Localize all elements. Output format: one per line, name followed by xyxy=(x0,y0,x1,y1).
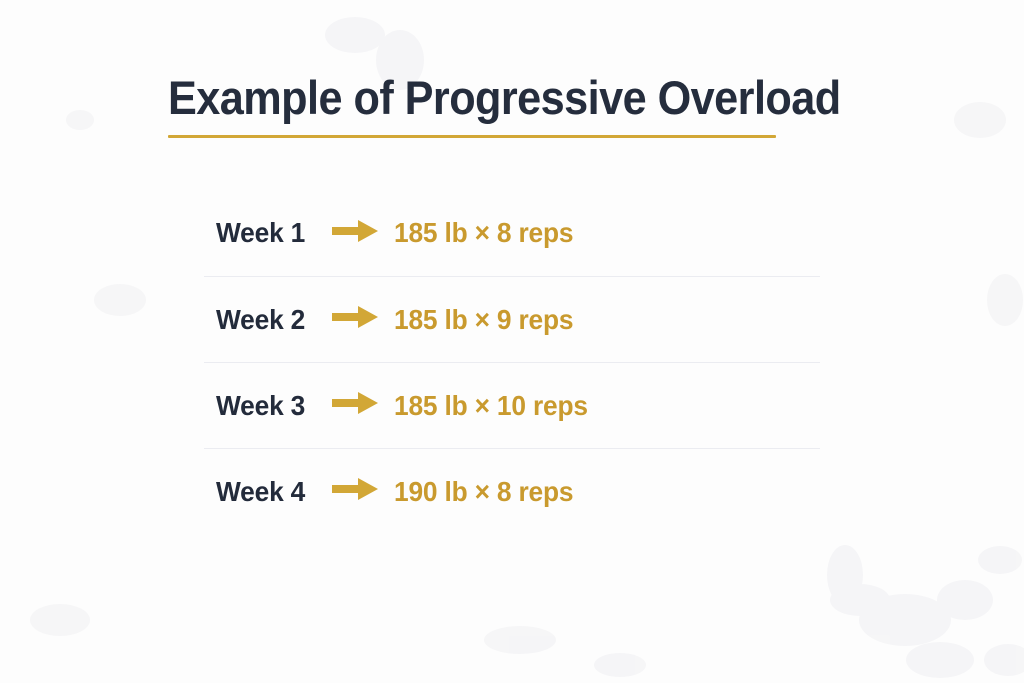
progression-row: Week 3 185 lb × 10 reps xyxy=(204,362,820,448)
progression-list: Week 1 185 lb × 8 reps Week 2 185 lb × 9… xyxy=(204,190,820,534)
arrow-right-icon xyxy=(332,476,378,507)
set-value: 185 lb × 9 reps xyxy=(394,304,573,336)
page-title: Example of Progressive Overload xyxy=(168,74,727,121)
progressive-overload-infographic: Example of Progressive Overload Week 1 1… xyxy=(0,0,1024,683)
arrow-right-icon xyxy=(332,304,378,335)
set-value: 185 lb × 10 reps xyxy=(394,390,588,422)
title-underline-rule xyxy=(168,135,776,138)
progression-row: Week 2 185 lb × 9 reps xyxy=(204,276,820,362)
week-label: Week 2 xyxy=(216,304,316,336)
week-label: Week 3 xyxy=(216,390,316,422)
week-label: Week 1 xyxy=(216,217,316,249)
arrow-right-icon xyxy=(332,390,378,421)
week-label: Week 4 xyxy=(216,476,316,508)
set-value: 185 lb × 8 reps xyxy=(394,217,573,249)
progression-row: Week 1 185 lb × 8 reps xyxy=(204,190,820,276)
progression-row: Week 4 190 lb × 8 reps xyxy=(204,448,820,534)
title-block: Example of Progressive Overload xyxy=(168,74,776,138)
arrow-right-icon xyxy=(332,218,378,249)
set-value: 190 lb × 8 reps xyxy=(394,476,573,508)
